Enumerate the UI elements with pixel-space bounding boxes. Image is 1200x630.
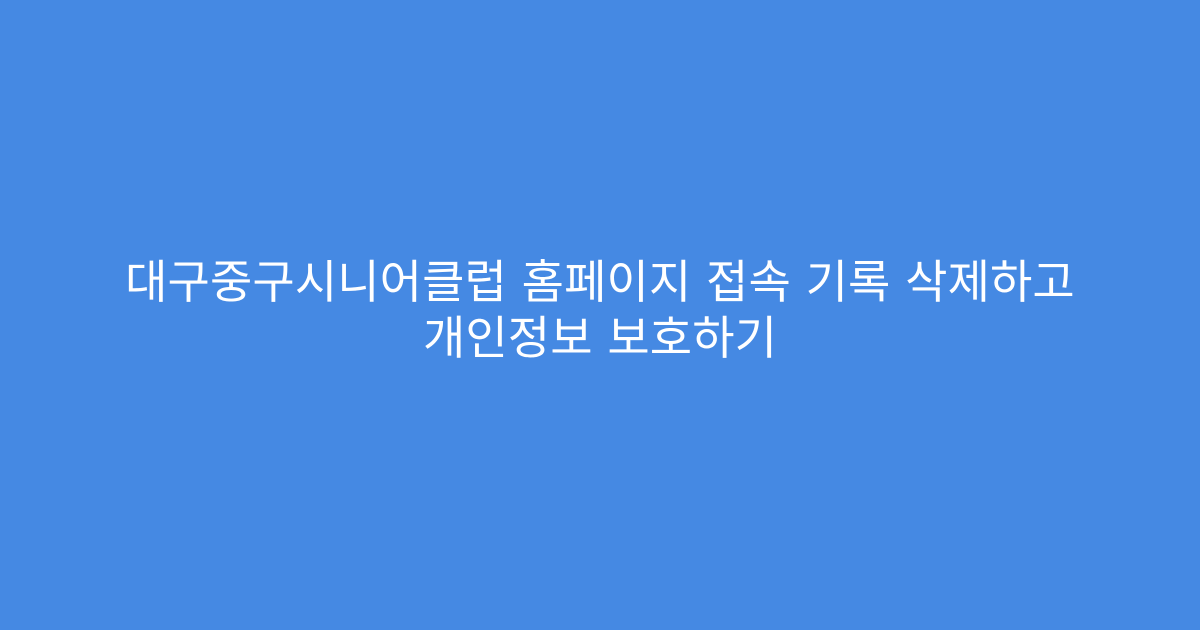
headline-block: 대구중구시니어클럽 홈페이지 접속 기록 삭제하고 개인정보 보호하기 (40, 254, 1160, 366)
share-card: 대구중구시니어클럽 홈페이지 접속 기록 삭제하고 개인정보 보호하기 (0, 0, 1200, 630)
page-title: 대구중구시니어클럽 홈페이지 접속 기록 삭제하고 개인정보 보호하기 (72, 254, 1128, 366)
